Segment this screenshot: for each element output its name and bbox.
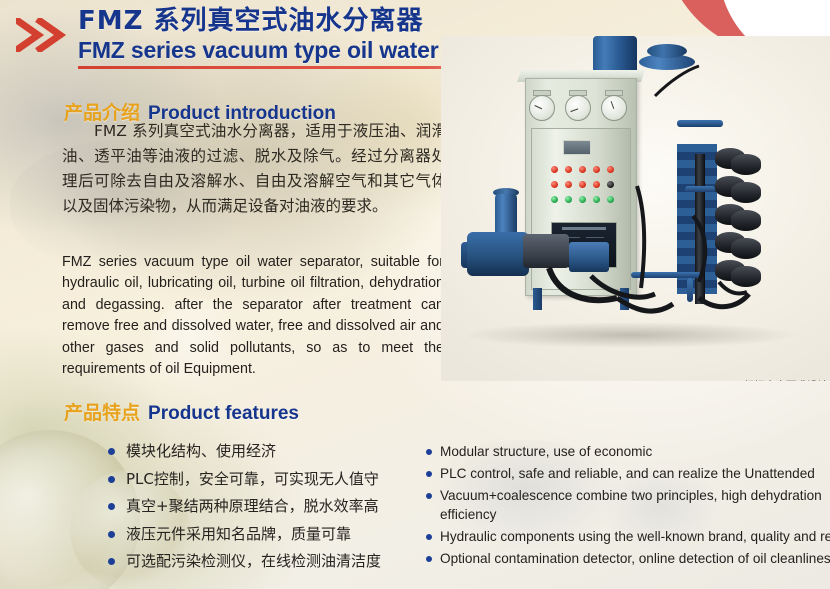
bullet-icon	[426, 556, 432, 562]
bullet-icon	[108, 531, 115, 538]
list-item: Vacuum+coalescence combine two principle…	[424, 487, 830, 524]
feature-text: 真空+聚结两种原理结合，脱水效率高	[126, 497, 379, 515]
list-item: Optional contamination detector, online …	[424, 550, 830, 569]
double-chevron-right-icon	[16, 18, 74, 52]
feature-text: PLC控制，安全可靠，可实现无人值守	[126, 470, 379, 488]
features-heading-en: Product features	[148, 403, 299, 424]
brochure-page: FMZ 系列真空式油水分离器 FMZ series vacuum type oi…	[0, 0, 830, 589]
section-title-features: 产品特点Product features	[64, 398, 299, 425]
feature-text: Modular structure, use of economic	[440, 444, 652, 459]
feature-text: Hydraulic components using the well-know…	[440, 529, 830, 544]
bullet-icon	[426, 449, 432, 455]
feature-text: 模块化结构、使用经济	[126, 442, 276, 460]
feature-text: PLC control, safe and reliable, and can …	[440, 466, 815, 481]
caption-chinese: 可根据客户要求设计	[708, 380, 828, 381]
bullet-icon	[108, 448, 115, 455]
features-list-english: Modular structure, use of economic PLC c…	[384, 443, 830, 572]
list-item: Hydraulic components using the well-know…	[424, 528, 830, 547]
hydraulic-hoses	[441, 36, 830, 381]
features-heading-cn: 产品特点	[64, 402, 140, 424]
list-item: Modular structure, use of economic	[424, 443, 830, 462]
features-list-chinese: 模块化结构、使用经济 PLC控制，安全可靠，可实现无人值守 真空+聚结两种原理结…	[64, 441, 434, 579]
feature-text: 液压元件采用知名品牌，质量可靠	[126, 525, 351, 543]
feature-text: Optional contamination detector, online …	[440, 551, 830, 566]
bullet-icon	[426, 493, 432, 499]
intro-paragraph-cn: FMZ 系列真空式油水分离器，适用于液压油、润滑油、透平油等油液的过滤、脱水及除…	[62, 119, 447, 219]
bullet-icon	[108, 558, 115, 565]
bullet-icon	[108, 476, 115, 483]
bullet-icon	[426, 471, 432, 477]
feature-text: 可选配污染检测仪，在线检测油清洁度	[126, 552, 381, 570]
bullet-icon	[426, 534, 432, 540]
title-chinese: FMZ 系列真空式油水分离器	[78, 6, 598, 36]
photo-caption: 可根据客户要求设计 Designed by the require of cus…	[708, 380, 828, 381]
feature-text: Vacuum+coalescence combine two principle…	[440, 488, 822, 522]
bullet-icon	[108, 503, 115, 510]
product-photo: 可根据客户要求设计 Designed by the require of cus…	[441, 36, 830, 381]
list-item: PLC control, safe and reliable, and can …	[424, 465, 830, 484]
intro-paragraph-en: FMZ series vacuum type oil water separat…	[62, 252, 444, 380]
